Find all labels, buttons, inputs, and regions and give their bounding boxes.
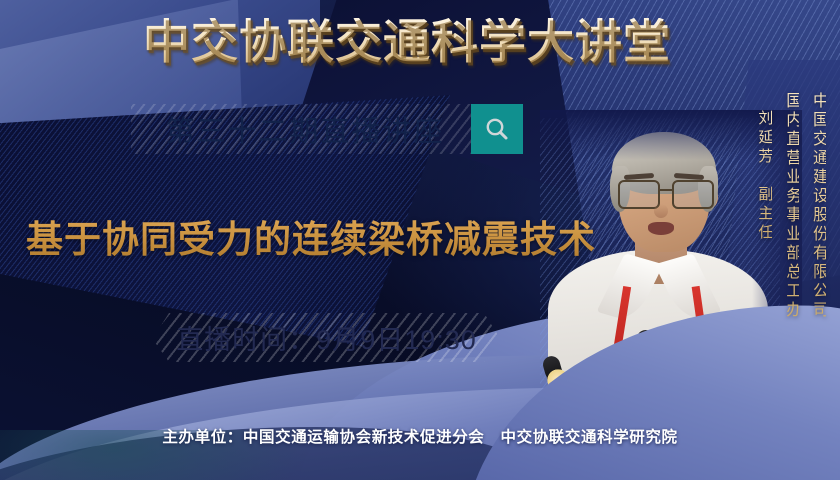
organizers-footer: 主办单位：中国交通运输协会新技术促进分会 中交协联交通科学研究院 [0,425,840,447]
glasses-lens-left [618,180,660,209]
speaker-glasses [616,180,712,206]
broadcast-time-text: 直播时间：9月9日19:30 [176,318,477,357]
speaker-name-and-title: 刘延芳 副主任 [757,110,773,243]
search-icon [471,104,523,154]
live-lecture-poster: 中交协联交通科学大讲堂 第三十二期直播讲座 基于协同受力的连续梁桥减震技术 直播… [0,0,840,480]
lecture-topic: 基于协同受力的连续梁桥减震技术 [26,209,596,263]
glasses-lens-right [672,180,714,209]
glasses-bridge [658,189,672,191]
page-title: 中交协联交通科学大讲堂 [143,18,671,65]
session-banner-label: 第三十二期直播讲座 [131,108,471,150]
speaker-credit: 刘延芳 副主任 国内直营业务事业部总工办 中国交通建设股份有限公司 [757,92,826,320]
speaker-nose [654,204,668,218]
broadcast-time-banner: 直播时间：9月9日19:30 [155,313,498,362]
speaker-department: 国内直营业务事业部总工办 [782,92,799,320]
session-banner: 第三十二期直播讲座 [131,104,523,154]
speaker-organization: 中国交通建设股份有限公司 [809,92,826,320]
speaker-mouth [648,222,674,235]
